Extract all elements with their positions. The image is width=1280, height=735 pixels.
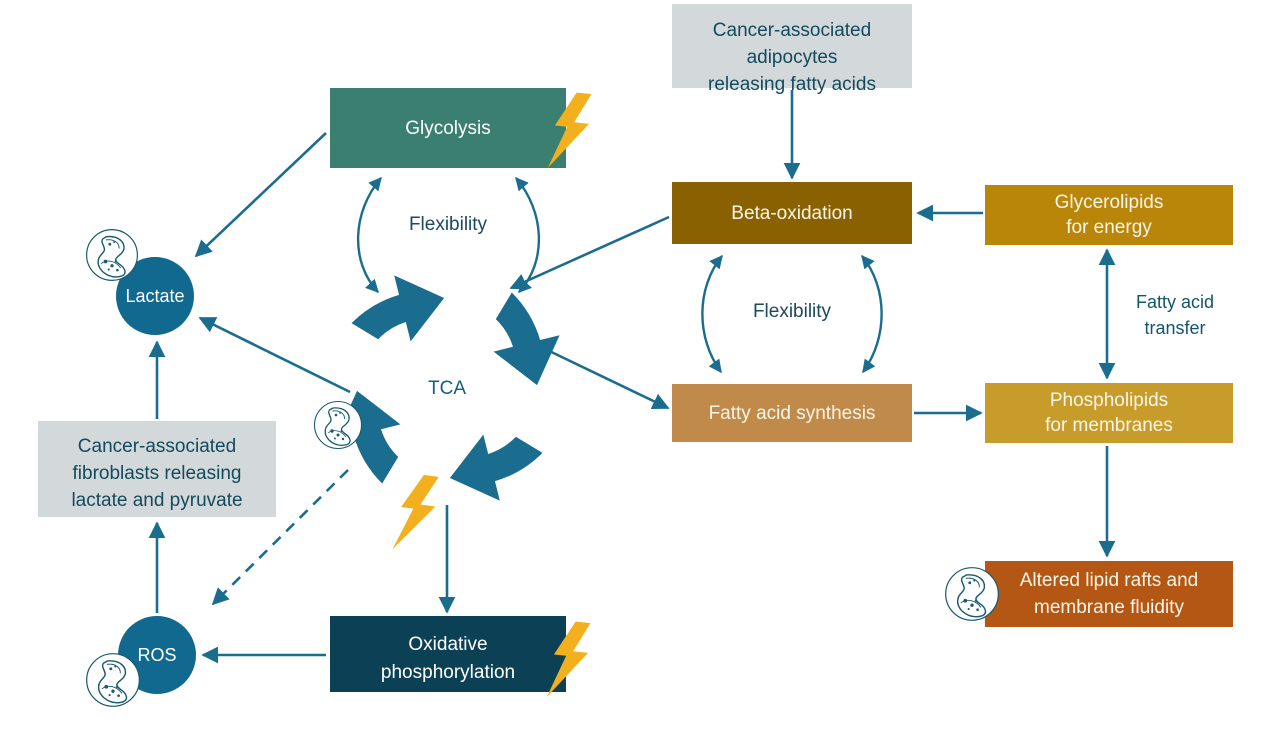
node-glycolysis[interactable]: Glycolysis	[330, 88, 566, 168]
diagram-canvas: TCA Glycolysis Cancer-associated adipocy…	[0, 0, 1280, 735]
node-cancer-fibroblasts[interactable]: Cancer-associated fibroblasts releasing …	[38, 421, 276, 517]
adipocytes-line-3: releasing fatty acids	[708, 74, 876, 95]
lipid-rafts-line-2: membrane fluidity	[1034, 597, 1184, 618]
glycerolipids-line-1: Glycerolipids	[1055, 192, 1164, 213]
edge-tca-to-fatty-acid-synthesis	[543, 348, 668, 408]
edge-glycolysis-to-lactate	[196, 133, 326, 256]
edge-flexibility-top-left	[358, 178, 381, 292]
node-phospholipids[interactable]: Phospholipids for membranes	[985, 383, 1233, 443]
tca-label: TCA	[428, 378, 466, 399]
node-beta-oxidation[interactable]: Beta-oxidation	[672, 182, 912, 244]
node-lipid-rafts[interactable]: Altered lipid rafts and membrane fluidit…	[985, 561, 1233, 627]
metabolism-diagram: TCA Glycolysis Cancer-associated adipocy…	[0, 0, 1280, 735]
beta-oxidation-label: Beta-oxidation	[731, 203, 852, 224]
oxphos-line-2: phosphorylation	[381, 662, 515, 683]
lactate-label: Lactate	[125, 286, 184, 306]
node-oxidative-phosphorylation[interactable]: Oxidative phosphorylation	[330, 616, 566, 692]
adipocytes-line-1: Cancer-associated	[713, 20, 871, 41]
fibroblasts-line-3: lactate and pyruvate	[71, 490, 242, 511]
edge-beta-oxidation-to-tca	[511, 217, 669, 288]
edge-flexibility-right-right	[862, 256, 882, 372]
fatty-acid-synthesis-label: Fatty acid synthesis	[709, 403, 876, 424]
oxphos-line-1: Oxidative	[408, 634, 487, 655]
node-cancer-adipocytes[interactable]: Cancer-associated adipocytes releasing f…	[672, 4, 912, 95]
fibroblasts-line-1: Cancer-associated	[78, 436, 236, 457]
lipid-rafts-line-1: Altered lipid rafts and	[1020, 570, 1199, 591]
adipocytes-line-2: adipocytes	[747, 47, 838, 68]
phospholipids-line-2: for membranes	[1045, 415, 1173, 436]
flexibility-label-top: Flexibility	[409, 214, 488, 235]
glycerolipids-line-2: for energy	[1066, 217, 1152, 238]
cell-icon-lipid-rafts	[946, 568, 999, 621]
phospholipids-line-1: Phospholipids	[1050, 390, 1168, 411]
fatty-acid-transfer-line-1: Fatty acid	[1136, 292, 1214, 312]
ros-label: ROS	[137, 645, 176, 665]
fibroblasts-line-2: fibroblasts releasing	[73, 463, 242, 484]
node-fatty-acid-synthesis[interactable]: Fatty acid synthesis	[672, 384, 912, 442]
cell-icon-ros	[87, 654, 140, 707]
edge-flexibility-top-right	[516, 178, 539, 292]
tca-cycle[interactable]: TCA	[324, 265, 570, 511]
lightning-bolt-icon-tca	[393, 472, 440, 554]
fatty-acid-transfer-line-2: transfer	[1144, 318, 1205, 338]
edge-tca-to-lactate	[200, 318, 350, 392]
flexibility-label-right: Flexibility	[753, 301, 832, 322]
node-glycerolipids[interactable]: Glycerolipids for energy	[985, 185, 1233, 245]
edge-flexibility-right-left	[702, 256, 722, 372]
cell-icon-tca	[315, 402, 362, 449]
glycolysis-label: Glycolysis	[405, 118, 491, 139]
cell-icon-lactate	[87, 230, 138, 281]
